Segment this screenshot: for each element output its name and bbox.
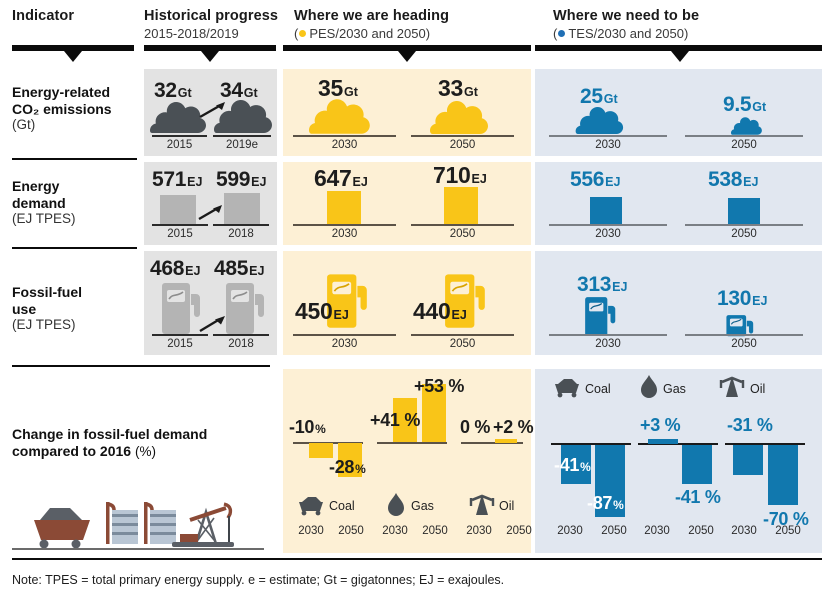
indicator-label-co2: Energy-related CO₂ emissions (Gt) xyxy=(12,84,137,134)
row2-need-bar-0 xyxy=(590,197,622,224)
row2-head-unit-0: EJ xyxy=(352,175,367,189)
indicator-demand-unit: (EJ TPES) xyxy=(12,211,137,228)
fuel-label-gas-pes: Gas xyxy=(411,499,434,513)
row1-heading-cell: 35Gt 33Gt 2030 2050 xyxy=(283,69,531,156)
row1-hist-value-0: 32Gt xyxy=(154,79,192,103)
row1-need-unit-1: Gt xyxy=(752,100,766,114)
row2-head-baseline-1 xyxy=(411,224,514,226)
row3-hist-num-0: 468 xyxy=(150,257,184,280)
column-header-heading: Where we are heading xyxy=(294,8,449,24)
row2-hist-num-1: 599 xyxy=(216,168,250,191)
tes-label-oil-2030: -31 % xyxy=(727,415,773,436)
row3-head-value-1: 440EJ xyxy=(413,298,467,325)
pes-year-oil-2030: 2030 xyxy=(459,525,499,537)
gas-flame-icon-tes xyxy=(640,375,658,399)
tes-year-oil-2030: 2030 xyxy=(723,525,765,537)
row3-need-unit-1: EJ xyxy=(752,294,767,308)
tes-label-coal-2050: -87% xyxy=(587,493,624,514)
row2-need-num-0: 556 xyxy=(570,168,604,191)
row3-head-num-0: 450 xyxy=(295,298,332,324)
tes-bar-gas-2030 xyxy=(648,439,678,444)
row2-hist-year-1: 2018 xyxy=(213,228,269,240)
paren-close: ) xyxy=(426,26,430,41)
row2-need-bar-1 xyxy=(728,198,760,224)
row2-hist-value-0: 571EJ xyxy=(152,168,202,192)
paren-open: ( xyxy=(294,26,298,41)
fuel-pump-icon-grey-2 xyxy=(224,281,268,334)
fuel-label-coal-tes: Coal xyxy=(585,382,611,396)
row2-need-unit-1: EJ xyxy=(743,175,758,189)
row3-need-year-0: 2030 xyxy=(549,338,667,350)
column-header-historical: Historical progress xyxy=(144,8,278,24)
tes-bar-oil-2050 xyxy=(768,445,798,505)
indicator-label-fossil-fuel: Fossil-fuel use (EJ TPES) xyxy=(12,284,137,334)
row1-need-baseline-0 xyxy=(549,135,667,137)
tes-label-gas-2050: -41 % xyxy=(675,487,721,508)
row2-need-unit-0: EJ xyxy=(605,175,620,189)
oil-derrick-icon-tes xyxy=(719,374,745,399)
pes-gas-zeroline xyxy=(377,442,447,444)
tes-val-coal-2030: -41 xyxy=(554,455,579,475)
row3-hist-value-0: 468EJ xyxy=(150,257,200,281)
row1-head-value-0: 35Gt xyxy=(318,75,358,102)
row1-hist-baseline-0 xyxy=(152,135,207,137)
paren-close-2: ) xyxy=(684,26,688,41)
cloud-icon-yellow-1 xyxy=(309,99,374,134)
column-header-need: Where we need to be xyxy=(553,8,699,24)
trend-arrow-row3 xyxy=(198,311,228,335)
row3-need-cell: 313EJ 130EJ 2030 2050 xyxy=(535,251,822,355)
bottom-title-line1: Change in fossil-fuel demand xyxy=(12,426,274,443)
coal-cart-icon-pes xyxy=(297,495,325,517)
oil-derrick-icon-pes xyxy=(469,492,495,517)
row1-need-num-0: 25 xyxy=(580,85,603,108)
row3-hist-num-1: 485 xyxy=(214,257,248,280)
row2-head-bar-1 xyxy=(444,187,478,224)
row3-head-value-0: 450EJ xyxy=(295,298,349,325)
tes-val-coal-2050: -87 xyxy=(587,493,612,513)
row3-hist-unit-1: EJ xyxy=(249,264,264,278)
pes-bar-coal-2030 xyxy=(309,443,333,458)
indicator-demand-line1: Energy xyxy=(12,178,137,195)
pes-year-coal-2030: 2030 xyxy=(291,525,331,537)
row1-hist-year-0: 2015 xyxy=(152,139,207,151)
pes-legend-dot xyxy=(299,30,306,37)
indicator-fossil-line2: use xyxy=(12,301,137,318)
illustration-ground-line xyxy=(12,548,264,550)
row1-need-baseline-1 xyxy=(685,135,803,137)
pes-label-oil-2030: 0 % xyxy=(460,417,490,438)
bottom-title-line2-wrap: compared to 2016 (%) xyxy=(12,443,274,460)
row3-need-baseline-1 xyxy=(685,334,803,336)
bottom-separator xyxy=(12,558,822,560)
fuel-label-oil-tes: Oil xyxy=(750,382,765,396)
column-header-need-sub: (TES/2030 and 2050) xyxy=(553,26,688,41)
tes-bar-oil-2030 xyxy=(733,445,763,475)
indicator-co2-line2: CO₂ emissions xyxy=(12,101,137,118)
row3-need-num-1: 130 xyxy=(717,287,751,310)
row1-need-year-0: 2030 xyxy=(549,139,667,151)
row3-historical-cell: 468EJ 485EJ 2015 2018 xyxy=(144,251,277,355)
fuel-label-oil-pes: Oil xyxy=(499,499,514,513)
row2-head-value-1: 710EJ xyxy=(433,162,487,189)
row3-heading-cell: 450EJ 440EJ 2030 2050 xyxy=(283,251,531,355)
row2-historical-cell: 571EJ 599EJ 2015 2018 xyxy=(144,162,277,245)
row2-hist-unit-0: EJ xyxy=(187,175,202,189)
row3-hist-value-1: 485EJ xyxy=(214,257,264,281)
pes-label-oil-2050: +2 % xyxy=(493,417,533,438)
indicator-fossil-unit: (EJ TPES) xyxy=(12,317,137,334)
paren-open-2: ( xyxy=(553,26,557,41)
row2-need-num-1: 538 xyxy=(708,168,742,191)
row1-head-unit-0: Gt xyxy=(344,85,358,99)
fuel-label-gas-tes: Gas xyxy=(663,382,686,396)
bottom-chart-pes: -10% -28% +41 % +53 % 0 % +2 % Coal Gas … xyxy=(283,369,531,553)
row3-hist-year-0: 2015 xyxy=(152,338,208,350)
pes-year-gas-2050: 2050 xyxy=(415,525,455,537)
tes-year-coal-2030: 2030 xyxy=(549,525,591,537)
coal-cart-icon-tes xyxy=(553,377,581,399)
tes-bar-gas-2050 xyxy=(682,445,712,484)
row1-head-unit-1: Gt xyxy=(464,85,478,99)
row3-need-value-1: 130EJ xyxy=(717,287,767,311)
row2-head-unit-1: EJ xyxy=(471,172,486,186)
row1-hist-unit-1: Gt xyxy=(244,86,258,100)
fuel-label-coal-pes: Coal xyxy=(329,499,355,513)
row2-need-baseline-0 xyxy=(549,224,667,226)
row2-head-bar-0 xyxy=(327,191,361,224)
header-arrow-indicator xyxy=(64,51,82,62)
tes-year-oil-2050: 2050 xyxy=(767,525,809,537)
row3-head-baseline-1 xyxy=(411,334,514,336)
trend-arrow-row1 xyxy=(199,99,227,119)
row1-need-cell: 25Gt 9.5Gt 2030 2050 xyxy=(535,69,822,156)
tes-val-oil-2030: -31 % xyxy=(727,415,773,435)
gas-flame-icon-pes xyxy=(387,493,405,517)
row2-head-num-1: 710 xyxy=(433,162,470,188)
pes-label-coal-2050: -28% xyxy=(329,457,366,478)
row1-head-baseline-0 xyxy=(293,135,396,137)
row1-need-num-1: 9.5 xyxy=(723,93,751,116)
indicator-fossil-line1: Fossil-fuel xyxy=(12,284,137,301)
row1-hist-unit-0: Gt xyxy=(178,86,192,100)
row3-hist-baseline-1 xyxy=(213,334,269,336)
row2-need-value-1: 538EJ xyxy=(708,168,758,192)
row-separator-1 xyxy=(12,158,137,160)
pes-val-gas-2050: +53 % xyxy=(414,376,464,396)
pes-label-gas-2030: +41 % xyxy=(370,410,420,431)
header-arrow-historical xyxy=(201,51,219,62)
row1-head-num-1: 33 xyxy=(438,75,463,101)
row2-hist-year-0: 2015 xyxy=(152,228,208,240)
pes-legend-label: PES/2030 and 2050 xyxy=(309,26,425,41)
row3-need-unit-0: EJ xyxy=(612,280,627,294)
row1-head-baseline-1 xyxy=(411,135,514,137)
row3-head-unit-1: EJ xyxy=(451,308,466,322)
row2-need-cell: 556EJ 538EJ 2030 2050 xyxy=(535,162,822,245)
row2-hist-unit-1: EJ xyxy=(251,175,266,189)
indicator-co2-unit: (Gt) xyxy=(12,117,137,134)
row3-hist-unit-0: EJ xyxy=(185,264,200,278)
row1-head-year-1: 2050 xyxy=(411,139,514,151)
pes-label-coal-2030: -10% xyxy=(289,417,326,438)
tes-legend-label: TES/2030 and 2050 xyxy=(568,26,684,41)
row1-need-value-0: 25Gt xyxy=(580,85,618,109)
row1-need-year-1: 2050 xyxy=(685,139,803,151)
row2-need-year-1: 2050 xyxy=(685,228,803,240)
row1-hist-baseline-1 xyxy=(213,135,271,137)
pes-year-gas-2030: 2030 xyxy=(375,525,415,537)
pes-val-oil-2050: +2 % xyxy=(493,417,533,437)
tes-val-gas-2030: +3 % xyxy=(640,415,680,435)
trend-arrow-row2 xyxy=(197,200,225,222)
row1-head-num-0: 35 xyxy=(318,75,343,101)
row3-head-unit-0: EJ xyxy=(333,308,348,322)
row2-head-baseline-0 xyxy=(293,224,396,226)
row3-need-num-0: 313 xyxy=(577,273,611,296)
fossil-fuel-illustration xyxy=(20,490,250,552)
row2-need-baseline-1 xyxy=(685,224,803,226)
row2-hist-value-1: 599EJ xyxy=(216,168,266,192)
pes-label-gas-2050: +53 % xyxy=(414,376,464,397)
cloud-icon-blue-2 xyxy=(731,117,764,135)
row3-head-baseline-0 xyxy=(293,334,396,336)
pes-val-coal-2030: -10 xyxy=(289,417,314,437)
row3-need-year-1: 2050 xyxy=(685,338,803,350)
pes-bar-oil-2050 xyxy=(495,439,517,443)
tes-year-gas-2050: 2050 xyxy=(680,525,722,537)
header-arrow-heading xyxy=(398,51,416,62)
row2-hist-bar-0 xyxy=(160,195,196,224)
tes-label-coal-2030: -41% xyxy=(554,455,591,476)
row2-hist-num-0: 571 xyxy=(152,168,186,191)
row-separator-2 xyxy=(12,247,137,249)
header-arrow-need xyxy=(671,51,689,62)
row3-hist-year-1: 2018 xyxy=(213,338,269,350)
row2-head-year-0: 2030 xyxy=(293,228,396,240)
column-header-historical-sub: 2015-2018/2019 xyxy=(144,26,239,41)
row2-heading-cell: 647EJ 710EJ 2030 2050 xyxy=(283,162,531,245)
row2-head-value-0: 647EJ xyxy=(314,165,368,192)
column-header-heading-sub: (PES/2030 and 2050) xyxy=(294,26,430,41)
row1-historical-cell: 32Gt 34Gt 2015 2019e xyxy=(144,69,277,156)
row3-need-baseline-0 xyxy=(549,334,667,336)
bottom-chart-tes: Coal Gas Oil -41% -87% +3 % -41 % -31 % … xyxy=(535,369,822,553)
footnote: Note: TPES = total primary energy supply… xyxy=(12,573,504,587)
tes-val-gas-2050: -41 % xyxy=(675,487,721,507)
fuel-pump-icon-blue-1 xyxy=(581,294,621,336)
row1-need-unit-0: Gt xyxy=(604,92,618,106)
row2-hist-bar-1 xyxy=(224,193,260,224)
infographic-root: Indicator Historical progress 2015-2018/… xyxy=(0,0,831,602)
row1-hist-num-0: 32 xyxy=(154,79,177,102)
bottom-title-unit: (%) xyxy=(135,444,156,459)
tes-year-coal-2050: 2050 xyxy=(593,525,635,537)
indicator-co2-line1: Energy-related xyxy=(12,84,137,101)
row3-head-year-0: 2030 xyxy=(293,338,396,350)
bottom-title-line2: compared to 2016 xyxy=(12,443,131,459)
row3-head-num-1: 440 xyxy=(413,298,450,324)
row2-hist-baseline-1 xyxy=(213,224,269,226)
row1-head-year-0: 2030 xyxy=(293,139,396,151)
row1-head-value-1: 33Gt xyxy=(438,75,478,102)
cloud-icon-yellow-2 xyxy=(430,101,492,134)
indicator-demand-line2: demand xyxy=(12,195,137,212)
cloud-icon-blue-1 xyxy=(575,107,627,134)
row3-hist-baseline-0 xyxy=(152,334,208,336)
row2-need-value-0: 556EJ xyxy=(570,168,620,192)
pes-val-oil-2030: 0 % xyxy=(460,417,490,437)
pes-val-gas-2030: +41 % xyxy=(370,410,420,430)
row1-need-value-1: 9.5Gt xyxy=(723,93,766,117)
indicator-label-energy-demand: Energy demand (EJ TPES) xyxy=(12,178,137,228)
row1-hist-year-1: 2019e xyxy=(213,139,271,151)
pes-val-coal-2050: -28 xyxy=(329,457,354,477)
row2-hist-baseline-0 xyxy=(152,224,208,226)
tes-year-gas-2030: 2030 xyxy=(636,525,678,537)
row-separator-3 xyxy=(12,365,270,367)
row2-head-num-0: 647 xyxy=(314,165,351,191)
row3-head-year-1: 2050 xyxy=(411,338,514,350)
column-header-indicator: Indicator xyxy=(12,8,74,24)
tes-legend-dot xyxy=(558,30,565,37)
row2-need-year-0: 2030 xyxy=(549,228,667,240)
row2-head-year-1: 2050 xyxy=(411,228,514,240)
tes-label-gas-2030: +3 % xyxy=(640,415,680,436)
bottom-title: Change in fossil-fuel demand compared to… xyxy=(12,426,274,460)
pes-year-coal-2050: 2050 xyxy=(331,525,371,537)
pes-year-oil-2050: 2050 xyxy=(499,525,539,537)
